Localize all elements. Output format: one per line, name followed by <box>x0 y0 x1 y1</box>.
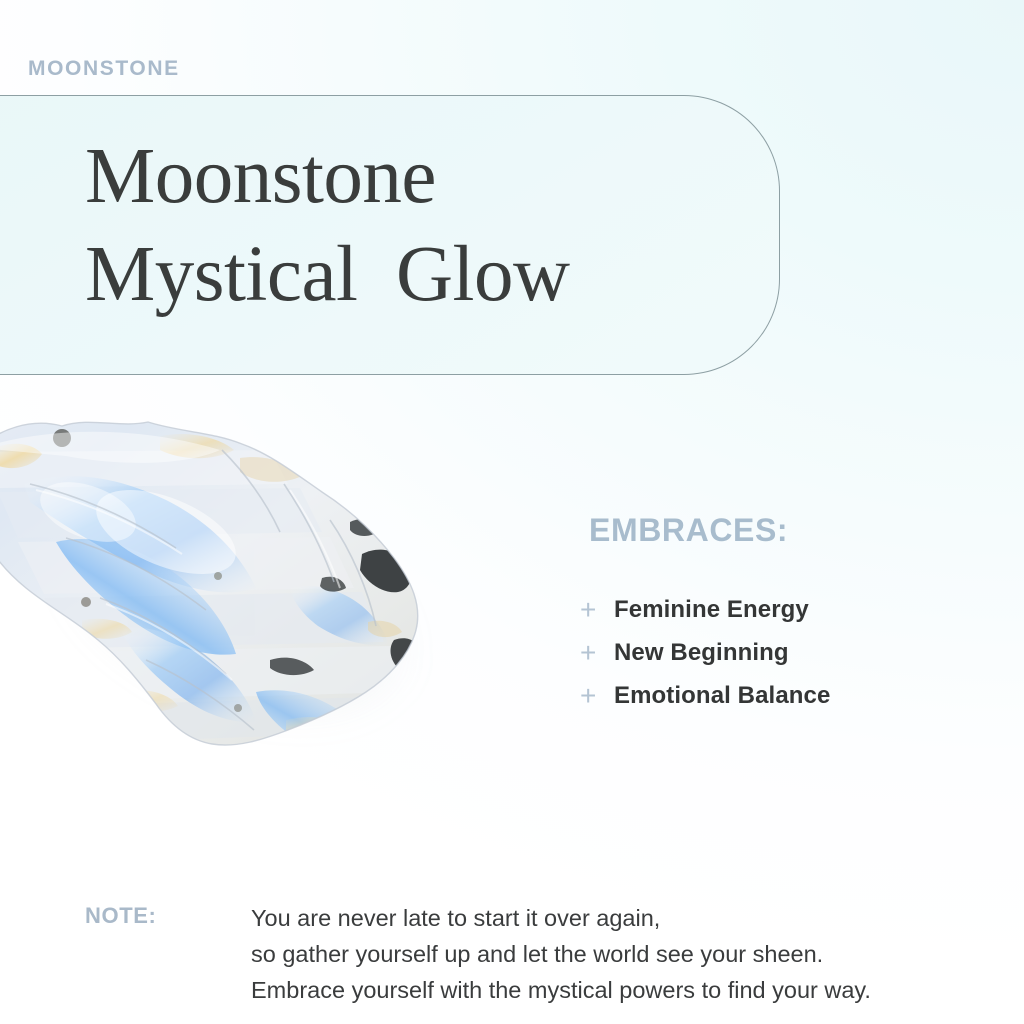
list-item: + New Beginning <box>580 631 1000 674</box>
list-item-label: New Beginning <box>614 639 789 667</box>
plus-icon: + <box>580 682 614 710</box>
note-label: NOTE: <box>85 903 156 929</box>
moonstone-illustration <box>0 392 540 802</box>
list-item-label: Emotional Balance <box>614 682 830 710</box>
plus-icon: + <box>580 639 614 667</box>
page-title: Moonstone Mystical Glow <box>85 128 735 324</box>
moonstone-image <box>0 392 540 802</box>
note-line: You are never late to start it over agai… <box>251 900 1011 936</box>
embraces-heading: EMBRACES: <box>589 512 788 549</box>
title-line-1: Moonstone <box>85 133 436 220</box>
eyebrow-label: MOONSTONE <box>28 57 180 81</box>
note-body: You are never late to start it over agai… <box>251 900 1011 1008</box>
plus-icon: + <box>580 596 614 624</box>
title-line-2: Mystical Glow <box>85 231 570 318</box>
list-item: + Emotional Balance <box>580 674 1000 717</box>
embraces-list: + Feminine Energy + New Beginning + Emot… <box>580 588 1000 717</box>
note-line: so gather yourself up and let the world … <box>251 936 1011 972</box>
list-item-label: Feminine Energy <box>614 596 809 624</box>
poster-canvas: MOONSTONE Moonstone Mystical Glow <box>0 0 1024 1024</box>
list-item: + Feminine Energy <box>580 588 1000 631</box>
note-line: Embrace yourself with the mystical power… <box>251 972 1011 1008</box>
